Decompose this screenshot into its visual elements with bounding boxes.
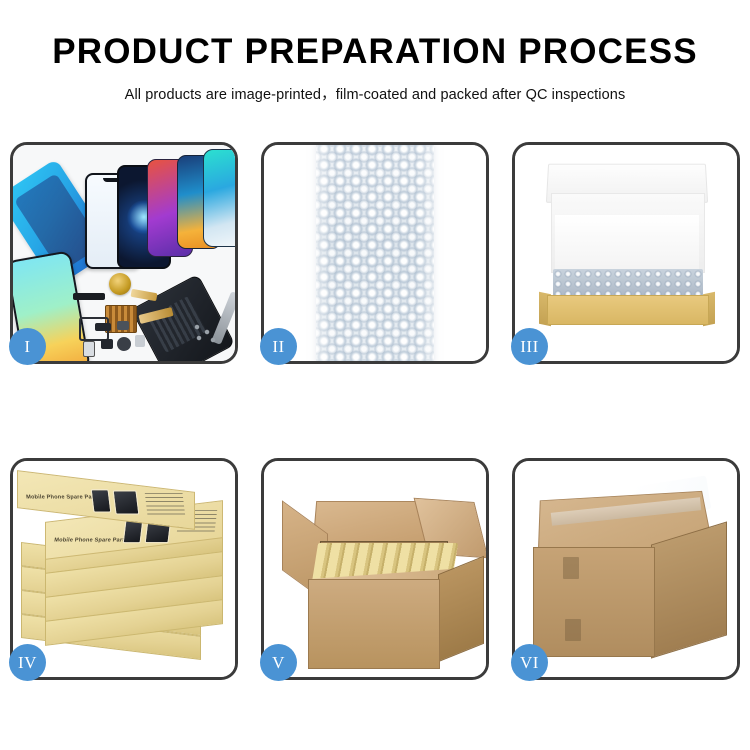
step-badge-1: I (9, 328, 46, 365)
retail-box-screen-d (113, 490, 140, 514)
product-preparation-infographic: PRODUCT PREPARATION PROCESS All products… (0, 0, 750, 750)
step-image-6 (515, 461, 737, 677)
page-title: PRODUCT PREPARATION PROCESS (0, 34, 750, 71)
retail-box-stack: Mobile Phone Spare Parts Mobile Phone Sp… (17, 477, 231, 667)
vibration-motor-icon (109, 273, 131, 295)
step-panel-2: II (261, 142, 489, 364)
retail-box-speclines-left (145, 493, 185, 515)
button-part-icon (135, 335, 145, 347)
step-panel-1: I (10, 142, 238, 364)
carton-handle-tab-lower-icon (565, 619, 581, 641)
page-subtitle: All products are image-printed，film-coat… (0, 83, 750, 104)
step-image-4: Mobile Phone Spare Parts Mobile Phone Sp… (13, 461, 235, 677)
retail-box-label-right: Mobile Phone Spare Parts (54, 537, 128, 543)
foam-liner-icon (555, 215, 699, 273)
step-badge-5: V (260, 644, 297, 681)
small-part-icon (101, 339, 113, 349)
step-image-1 (13, 145, 235, 361)
step-badge-4: IV (9, 644, 46, 681)
carton-front-panel-icon (308, 579, 440, 669)
flex-connector-icon (131, 289, 158, 301)
camera-module-icon (117, 321, 129, 330)
connector-part-icon (95, 323, 111, 331)
sealed-carton-front-icon (533, 547, 655, 657)
battery-strip-icon (73, 293, 105, 300)
sim-tray-icon (83, 341, 95, 357)
step-panel-4: Mobile Phone Spare Parts Mobile Phone Sp… (10, 458, 238, 680)
carton-side-panel-icon (438, 556, 484, 663)
step-badge-3: III (511, 328, 548, 365)
header: PRODUCT PREPARATION PROCESS All products… (0, 0, 750, 104)
step-panel-6: VI (512, 458, 740, 680)
retail-box-label-left: Mobile Phone Spare Parts (26, 495, 100, 501)
steps-grid: I II III (10, 142, 740, 680)
step-image-2 (264, 145, 486, 361)
step-badge-6: VI (511, 644, 548, 681)
step-panel-3: III (512, 142, 740, 364)
inner-box-front-icon (547, 295, 709, 325)
screws-icon (193, 323, 219, 345)
step-panel-5: V (261, 458, 489, 680)
wrap-film-icon (308, 145, 442, 361)
phone-display-curved-icon (203, 149, 235, 247)
step-image-3 (515, 145, 737, 361)
step-badge-2: II (260, 328, 297, 365)
carton-handle-tab-upper-icon (563, 557, 579, 579)
step-image-5 (264, 461, 486, 677)
speaker-icon (117, 337, 131, 351)
sealed-carton-side-icon (651, 521, 727, 658)
retail-box-screen-c (91, 489, 112, 512)
retail-box-screen-a (123, 520, 144, 543)
